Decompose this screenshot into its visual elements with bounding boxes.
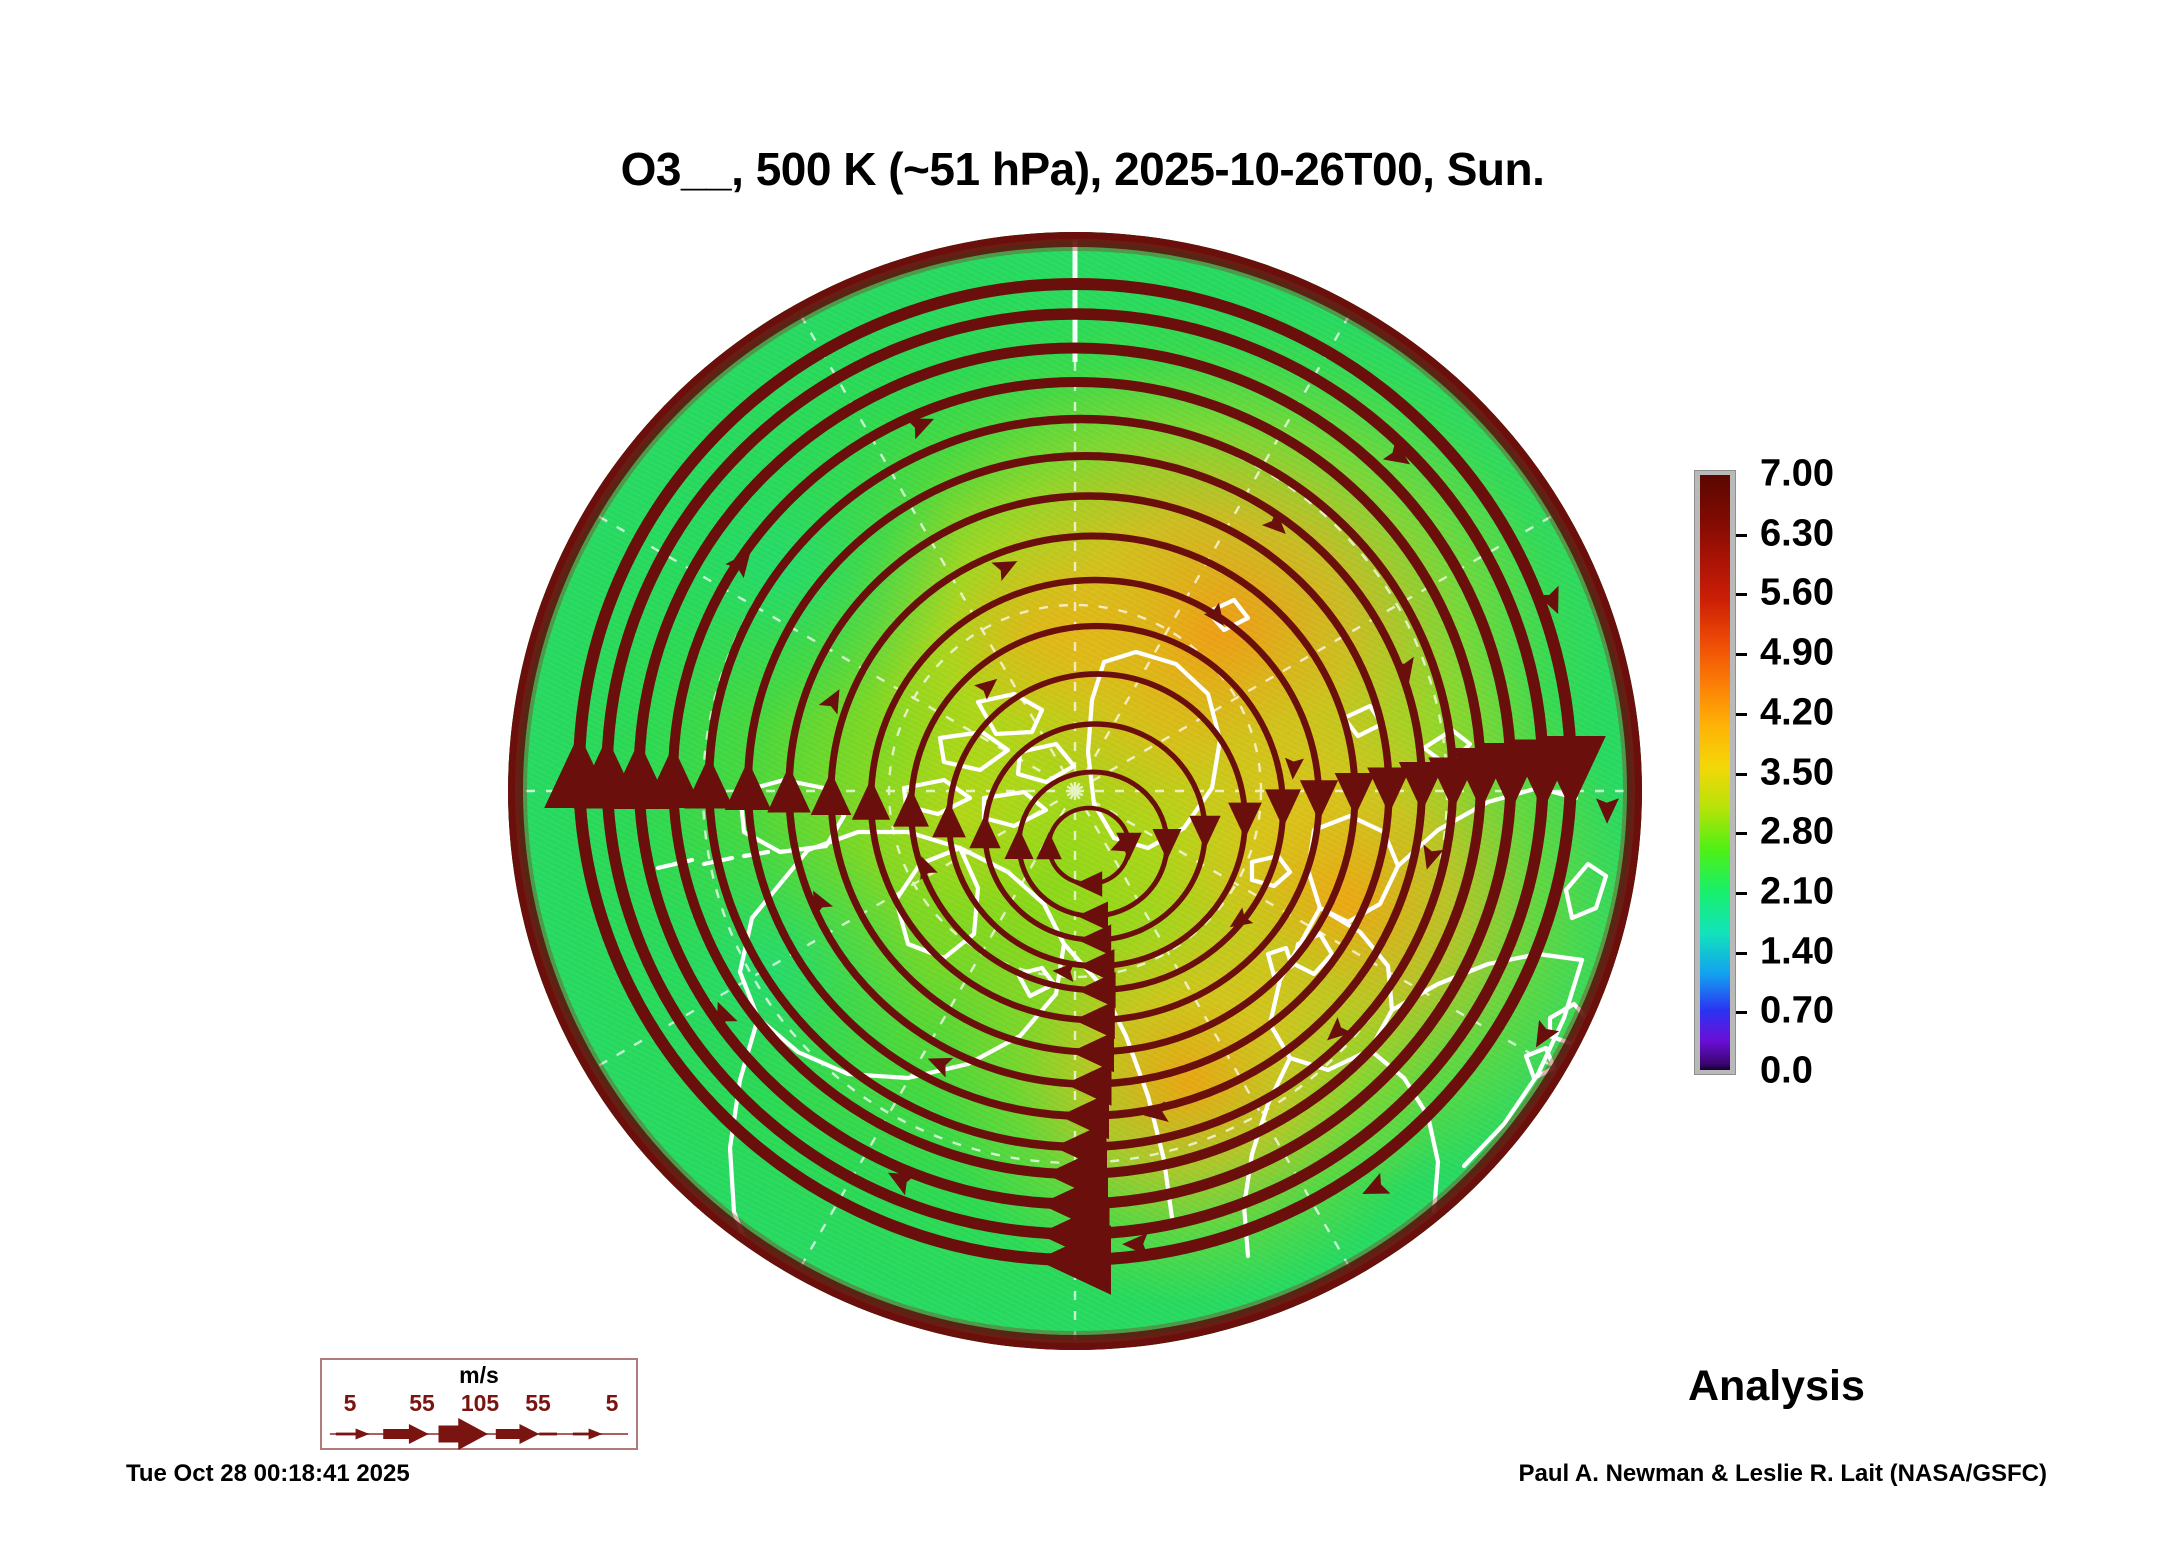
wind-legend-tick-label: 5 — [344, 1390, 357, 1417]
wind-legend-tick-label: 5 — [606, 1390, 619, 1417]
colorbar-gradient — [1700, 475, 1730, 1070]
polar-map — [508, 232, 1642, 1350]
wind-legend-unit: m/s — [322, 1362, 636, 1389]
page-title: O3__, 500 K (~51 hPa), 2025-10-26T00, Su… — [0, 142, 2165, 196]
colorbar-tick — [1736, 653, 1747, 656]
colorbar-frame — [1694, 470, 1736, 1075]
colorbar-tick-label: 5.60 — [1760, 572, 1834, 615]
colorbar: 7.006.305.604.904.203.502.802.101.400.70… — [1694, 470, 1944, 1082]
colorbar-tick-label: 4.20 — [1760, 691, 1834, 734]
wind-legend-arrows — [322, 1418, 636, 1450]
colorbar-tick-label: 0.70 — [1760, 990, 1834, 1033]
wind-legend-tick-label: 55 — [525, 1390, 551, 1417]
colorbar-tick — [1736, 832, 1747, 835]
wind-streamlines — [508, 232, 1642, 1350]
colorbar-tick-label: 7.00 — [1760, 453, 1834, 496]
colorbar-tick — [1736, 952, 1747, 955]
colorbar-tick-label: 1.40 — [1760, 930, 1834, 973]
colorbar-tick-label: 4.90 — [1760, 632, 1834, 675]
colorbar-tick — [1736, 593, 1747, 596]
colorbar-tick-label: 6.30 — [1760, 512, 1834, 555]
colorbar-tick — [1736, 713, 1747, 716]
colorbar-tick — [1736, 892, 1747, 895]
wind-legend-tick-label: 55 — [409, 1390, 435, 1417]
colorbar-tick — [1736, 1011, 1747, 1014]
colorbar-tick — [1736, 773, 1747, 776]
wind-speed-legend: m/s 555105555 — [320, 1358, 638, 1450]
colorbar-tick — [1736, 534, 1747, 537]
analysis-label: Analysis — [1688, 1362, 1865, 1411]
wind-legend-tick-label: 105 — [461, 1390, 499, 1417]
render-timestamp: Tue Oct 28 00:18:41 2025 — [126, 1460, 410, 1488]
author-credit: Paul A. Newman & Leslie R. Lait (NASA/GS… — [1518, 1460, 2047, 1488]
map-disc — [508, 232, 1642, 1350]
colorbar-tick-label: 2.10 — [1760, 870, 1834, 913]
colorbar-tick-label: 0.0 — [1760, 1050, 1813, 1093]
colorbar-tick-label: 2.80 — [1760, 811, 1834, 854]
colorbar-tick-label: 3.50 — [1760, 751, 1834, 794]
